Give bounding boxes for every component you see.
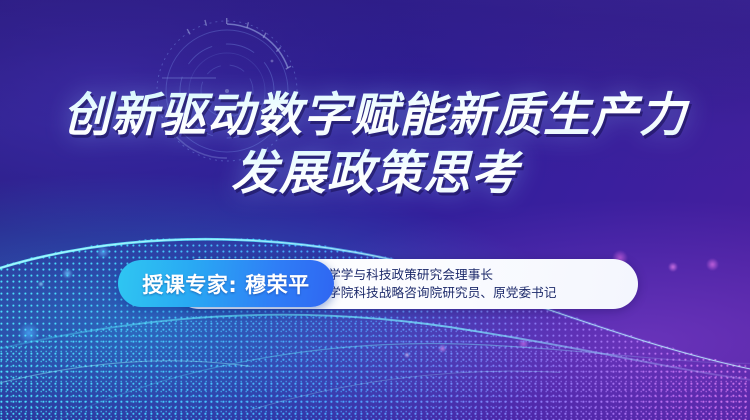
bokeh-light bbox=[706, 258, 719, 271]
speaker-badge: 授课专家: 穆荣平 bbox=[118, 260, 334, 307]
banner-title: 创新驱动数字赋能新质生产力 发展政策思考 bbox=[0, 88, 750, 202]
bokeh-light bbox=[62, 268, 73, 279]
bokeh-light bbox=[668, 262, 678, 272]
bokeh-light bbox=[18, 322, 40, 344]
speaker-badge-label: 授课专家: 穆荣平 bbox=[142, 269, 309, 299]
bokeh-light bbox=[518, 338, 529, 349]
bokeh-light bbox=[38, 281, 44, 287]
bokeh-light bbox=[404, 352, 410, 358]
title-line-2: 发展政策思考 bbox=[0, 146, 750, 202]
bokeh-light bbox=[96, 245, 110, 259]
speaker-strip: 中国科学学与科技政策研究会理事长 中国科学院科技战略咨询院研究员、原党委书记 授… bbox=[118, 259, 638, 309]
course-promo-banner: 创新驱动数字赋能新质生产力 发展政策思考 中国科学学与科技政策研究会理事长 中国… bbox=[0, 0, 750, 420]
bokeh-light bbox=[438, 344, 447, 353]
diagonal-light-band bbox=[0, 0, 750, 111]
top-glow-overlay bbox=[0, 0, 750, 126]
title-line-1: 创新驱动数字赋能新质生产力 bbox=[0, 88, 750, 144]
hud-ring-icon bbox=[152, 16, 302, 166]
